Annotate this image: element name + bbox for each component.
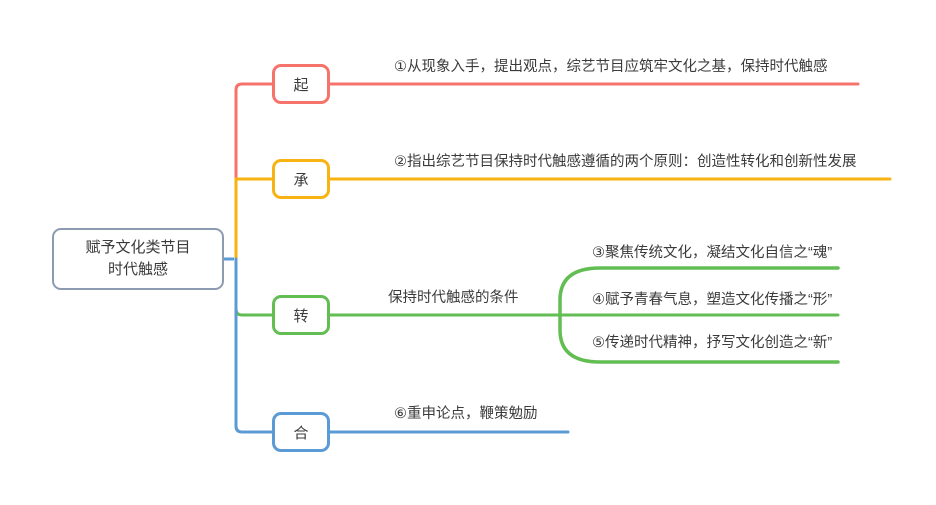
leaf-text-zhuan-3: ⑤传递时代精神，抒写文化创造之“新”: [592, 336, 832, 351]
leaf-text-he-1: ⑥重申论点，鞭策勉励: [394, 407, 538, 422]
branch-node-zhuan[interactable]: 转: [272, 295, 330, 335]
leaf-text-zhuan-1: ③聚焦传统文化，凝结文化自信之“魂”: [592, 246, 832, 261]
branch-node-he[interactable]: 合: [272, 412, 330, 452]
connector-cheng: [236, 179, 272, 259]
branch-node-cheng[interactable]: 承: [272, 159, 330, 199]
root-node-label: 赋予文化类节目 时代触感: [85, 237, 190, 281]
leaf-text-zhuan-2: ④赋予青春气息，塑造文化传播之“形”: [592, 293, 832, 308]
connector-qi: [236, 84, 272, 259]
leaf-text-cheng-1: ②指出综艺节目保持时代触感遵循的两个原则：创造性转化和创新性发展: [394, 155, 857, 170]
branch-node-he-label: 合: [293, 422, 308, 443]
branch-node-qi-label: 起: [293, 74, 308, 95]
connector-zhuan: [236, 259, 272, 315]
leaf-text-qi-1: ①从现象入手，提出观点，综艺节目应筑牢文化之基，保持时代触感: [394, 60, 828, 75]
mindmap-canvas: 赋予文化类节目 时代触感 起 承 转 合 ①从现象入手，提出观点，综艺节目应筑牢…: [0, 0, 936, 505]
root-node[interactable]: 赋予文化类节目 时代触感: [52, 228, 224, 290]
connector-he: [236, 259, 272, 432]
leaf-text-zhuan-sublabel: 保持时代触感的条件: [388, 291, 519, 306]
branch-node-qi[interactable]: 起: [272, 64, 330, 104]
branch-node-zhuan-label: 转: [293, 305, 308, 326]
branch-node-cheng-label: 承: [293, 169, 308, 190]
